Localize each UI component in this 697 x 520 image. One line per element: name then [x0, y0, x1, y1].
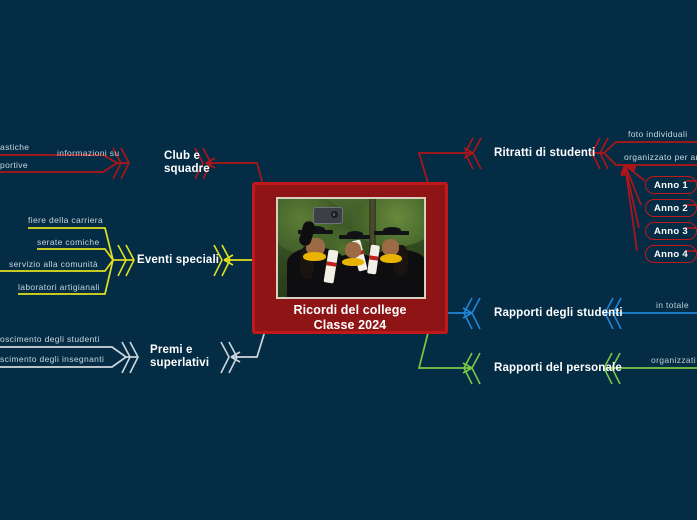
leaf-eventi-3: servizio alla comunità [9, 259, 98, 270]
edge-label-informazioni-su: informazioni su [57, 148, 119, 159]
leaf-ritratti-2: organizzato per ann [624, 152, 697, 163]
year-pill-anno-3[interactable]: Anno 3 [645, 222, 697, 240]
central-title-line2: Classe 2024 [255, 318, 445, 333]
leaf-premi-2: scimento degli insegnanti [0, 354, 104, 365]
graduates-photo [276, 197, 426, 299]
topic-ritratti-di-studenti[interactable]: Ritratti di studenti [494, 146, 595, 160]
topic-label-line1: Premi e [150, 344, 209, 357]
topic-label-line1: Club e [164, 150, 210, 163]
topic-rapporti-degli-studenti[interactable]: Rapporti degli studenti [494, 306, 623, 320]
topic-premi-e-superlativi[interactable]: Premi e superlativi [150, 344, 209, 370]
leaf-club-2: portive [0, 160, 28, 171]
year-pill-anno-2[interactable]: Anno 2 [645, 199, 697, 217]
edge-label-organizzati-p: organizzati p [651, 355, 697, 366]
central-topic-node[interactable]: Ricordi del college Classe 2024 [252, 182, 448, 334]
branch-line-club-e-squadre [0, 148, 265, 192]
topic-rapporti-del-personale[interactable]: Rapporti del personale [494, 361, 622, 375]
leaf-eventi-1: fiere della carriera [28, 215, 103, 226]
topic-eventi-speciali[interactable]: Eventi speciali [137, 253, 219, 267]
central-title-line1: Ricordi del college [255, 303, 445, 318]
leaf-club-1: astiche [0, 142, 29, 153]
topic-club-e-squadre[interactable]: Club e squadre [164, 150, 210, 176]
topic-label-line2: superlativi [150, 357, 209, 370]
year-pill-anno-4[interactable]: Anno 4 [645, 245, 697, 263]
topic-label-line2: squadre [164, 163, 210, 176]
leaf-eventi-4: laboratori artigianali [18, 282, 100, 293]
edge-label-in-totale: in totale [656, 300, 689, 311]
leaf-eventi-2: serate comiche [37, 237, 100, 248]
year-pill-anno-1[interactable]: Anno 1 [645, 176, 697, 194]
leaf-premi-1: oscimento degli studenti [0, 334, 100, 345]
mindmap-canvas: Ricordi del college Classe 2024 Club e s… [0, 0, 697, 520]
leaf-ritratti-1: foto individuali [628, 129, 687, 140]
central-title: Ricordi del college Classe 2024 [255, 303, 445, 333]
